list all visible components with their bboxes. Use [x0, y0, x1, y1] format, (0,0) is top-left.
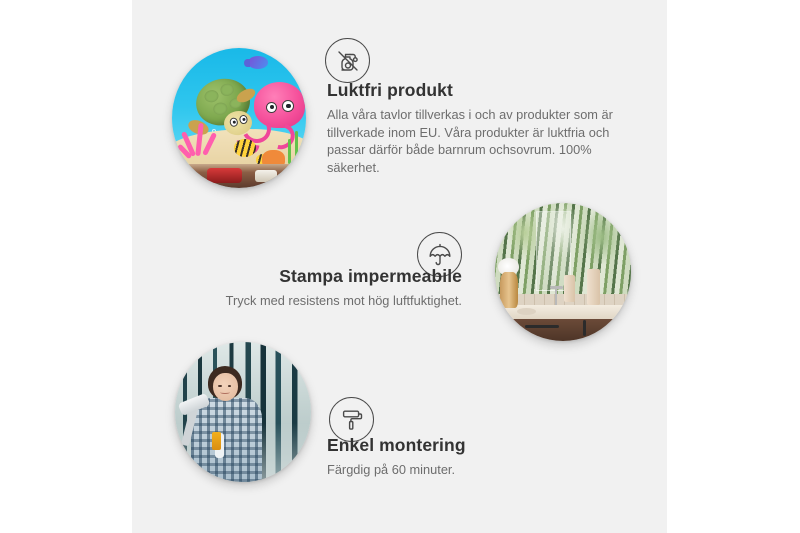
faucet-icon: [555, 289, 557, 306]
feature-description-odorless: Alla våra tavlor tillverkas i och av pro…: [327, 106, 627, 176]
feature-title-odorless: Luktfri produkt: [327, 80, 627, 101]
feature-text-easy-install: Enkel montering Färgdig på 60 minuter.: [327, 435, 577, 479]
vase-icon: [500, 272, 518, 308]
feature-title-easy-install: Enkel montering: [327, 435, 577, 456]
foreground-strip: [172, 164, 306, 188]
feature-text-waterproof: Stampa impermeabile Tryck med resistens …: [212, 266, 462, 310]
feature-title-waterproof: Stampa impermeabile: [212, 266, 462, 287]
person-face: [213, 373, 237, 401]
bottle-icon: [587, 269, 599, 305]
seaweed-icon: [295, 131, 298, 165]
seaweed-icon: [288, 139, 291, 164]
bottle-icon: [564, 275, 575, 303]
feature-description-waterproof: Tryck med resistens mot hög luftfuktighe…: [212, 292, 462, 310]
vanity-cabinet: [506, 319, 631, 341]
feature-image-easy-install: [175, 342, 311, 482]
paint-brush-icon: [212, 432, 222, 450]
person-body: [191, 398, 262, 482]
no-spray-bottle-icon: [325, 38, 370, 83]
coral-icon: [180, 121, 220, 163]
drawer-pull-icon: [525, 325, 560, 328]
soap-dish-icon: [517, 308, 536, 315]
feature-image-odorless: [172, 48, 306, 188]
feature-description-easy-install: Färgdig på 60 minuter.: [327, 461, 577, 479]
feature-image-waterproof: [495, 203, 631, 341]
feature-text-odorless: Luktfri produkt Alla våra tavlor tillver…: [327, 80, 627, 176]
product-feature-infographic: Luktfri produkt Alla våra tavlor tillver…: [0, 0, 800, 533]
